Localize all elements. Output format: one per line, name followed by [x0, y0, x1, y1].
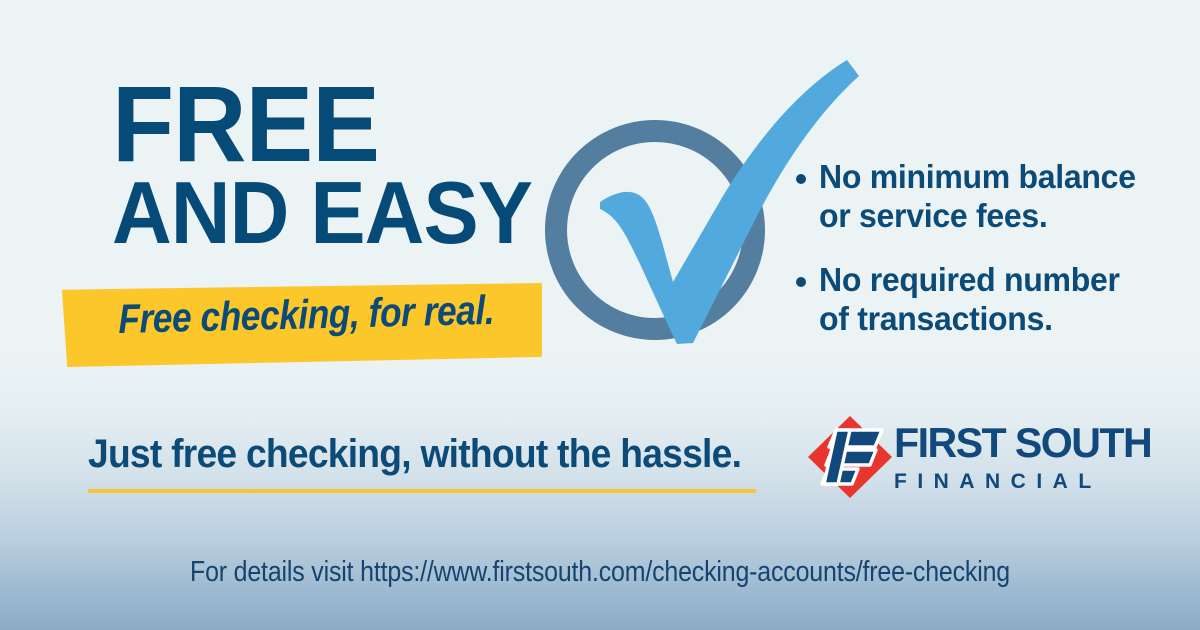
- logo-wordmark: FIRST SOUTH FINANCIAL: [894, 422, 1136, 492]
- first-south-financial-logo: FIRST SOUTH FINANCIAL: [806, 414, 1136, 500]
- footer-url-text: For details visit https://www.firstsouth…: [84, 556, 1116, 589]
- bullet-dot-icon: [796, 174, 806, 184]
- bullet-dot-icon: [796, 277, 806, 287]
- tagline-underline: [88, 489, 756, 493]
- free-checking-promo-banner: FREE AND EASY Free checking, for real. N…: [0, 0, 1200, 630]
- logo-wordmark-primary: FIRST SOUTH: [894, 422, 1131, 464]
- headline-line-2: AND EASY: [112, 175, 532, 251]
- list-item: No minimum balance or service fees.: [796, 158, 1166, 235]
- headline-line-1: FREE: [112, 78, 532, 171]
- logo-wordmark-secondary: FINANCIAL: [894, 471, 1136, 492]
- page-title: FREE AND EASY: [112, 78, 559, 251]
- benefit-text: No required number of transactions.: [819, 261, 1156, 338]
- diamond-f-mark-icon: [806, 414, 894, 500]
- tagline: Just free checking, without the hassle.: [88, 432, 741, 477]
- benefits-list: No minimum balance or service fees. No r…: [796, 158, 1166, 364]
- list-item: No required number of transactions.: [796, 261, 1166, 338]
- highlight-band-text: Free checking, for real.: [118, 287, 489, 343]
- benefit-text: No minimum balance or service fees.: [819, 158, 1156, 235]
